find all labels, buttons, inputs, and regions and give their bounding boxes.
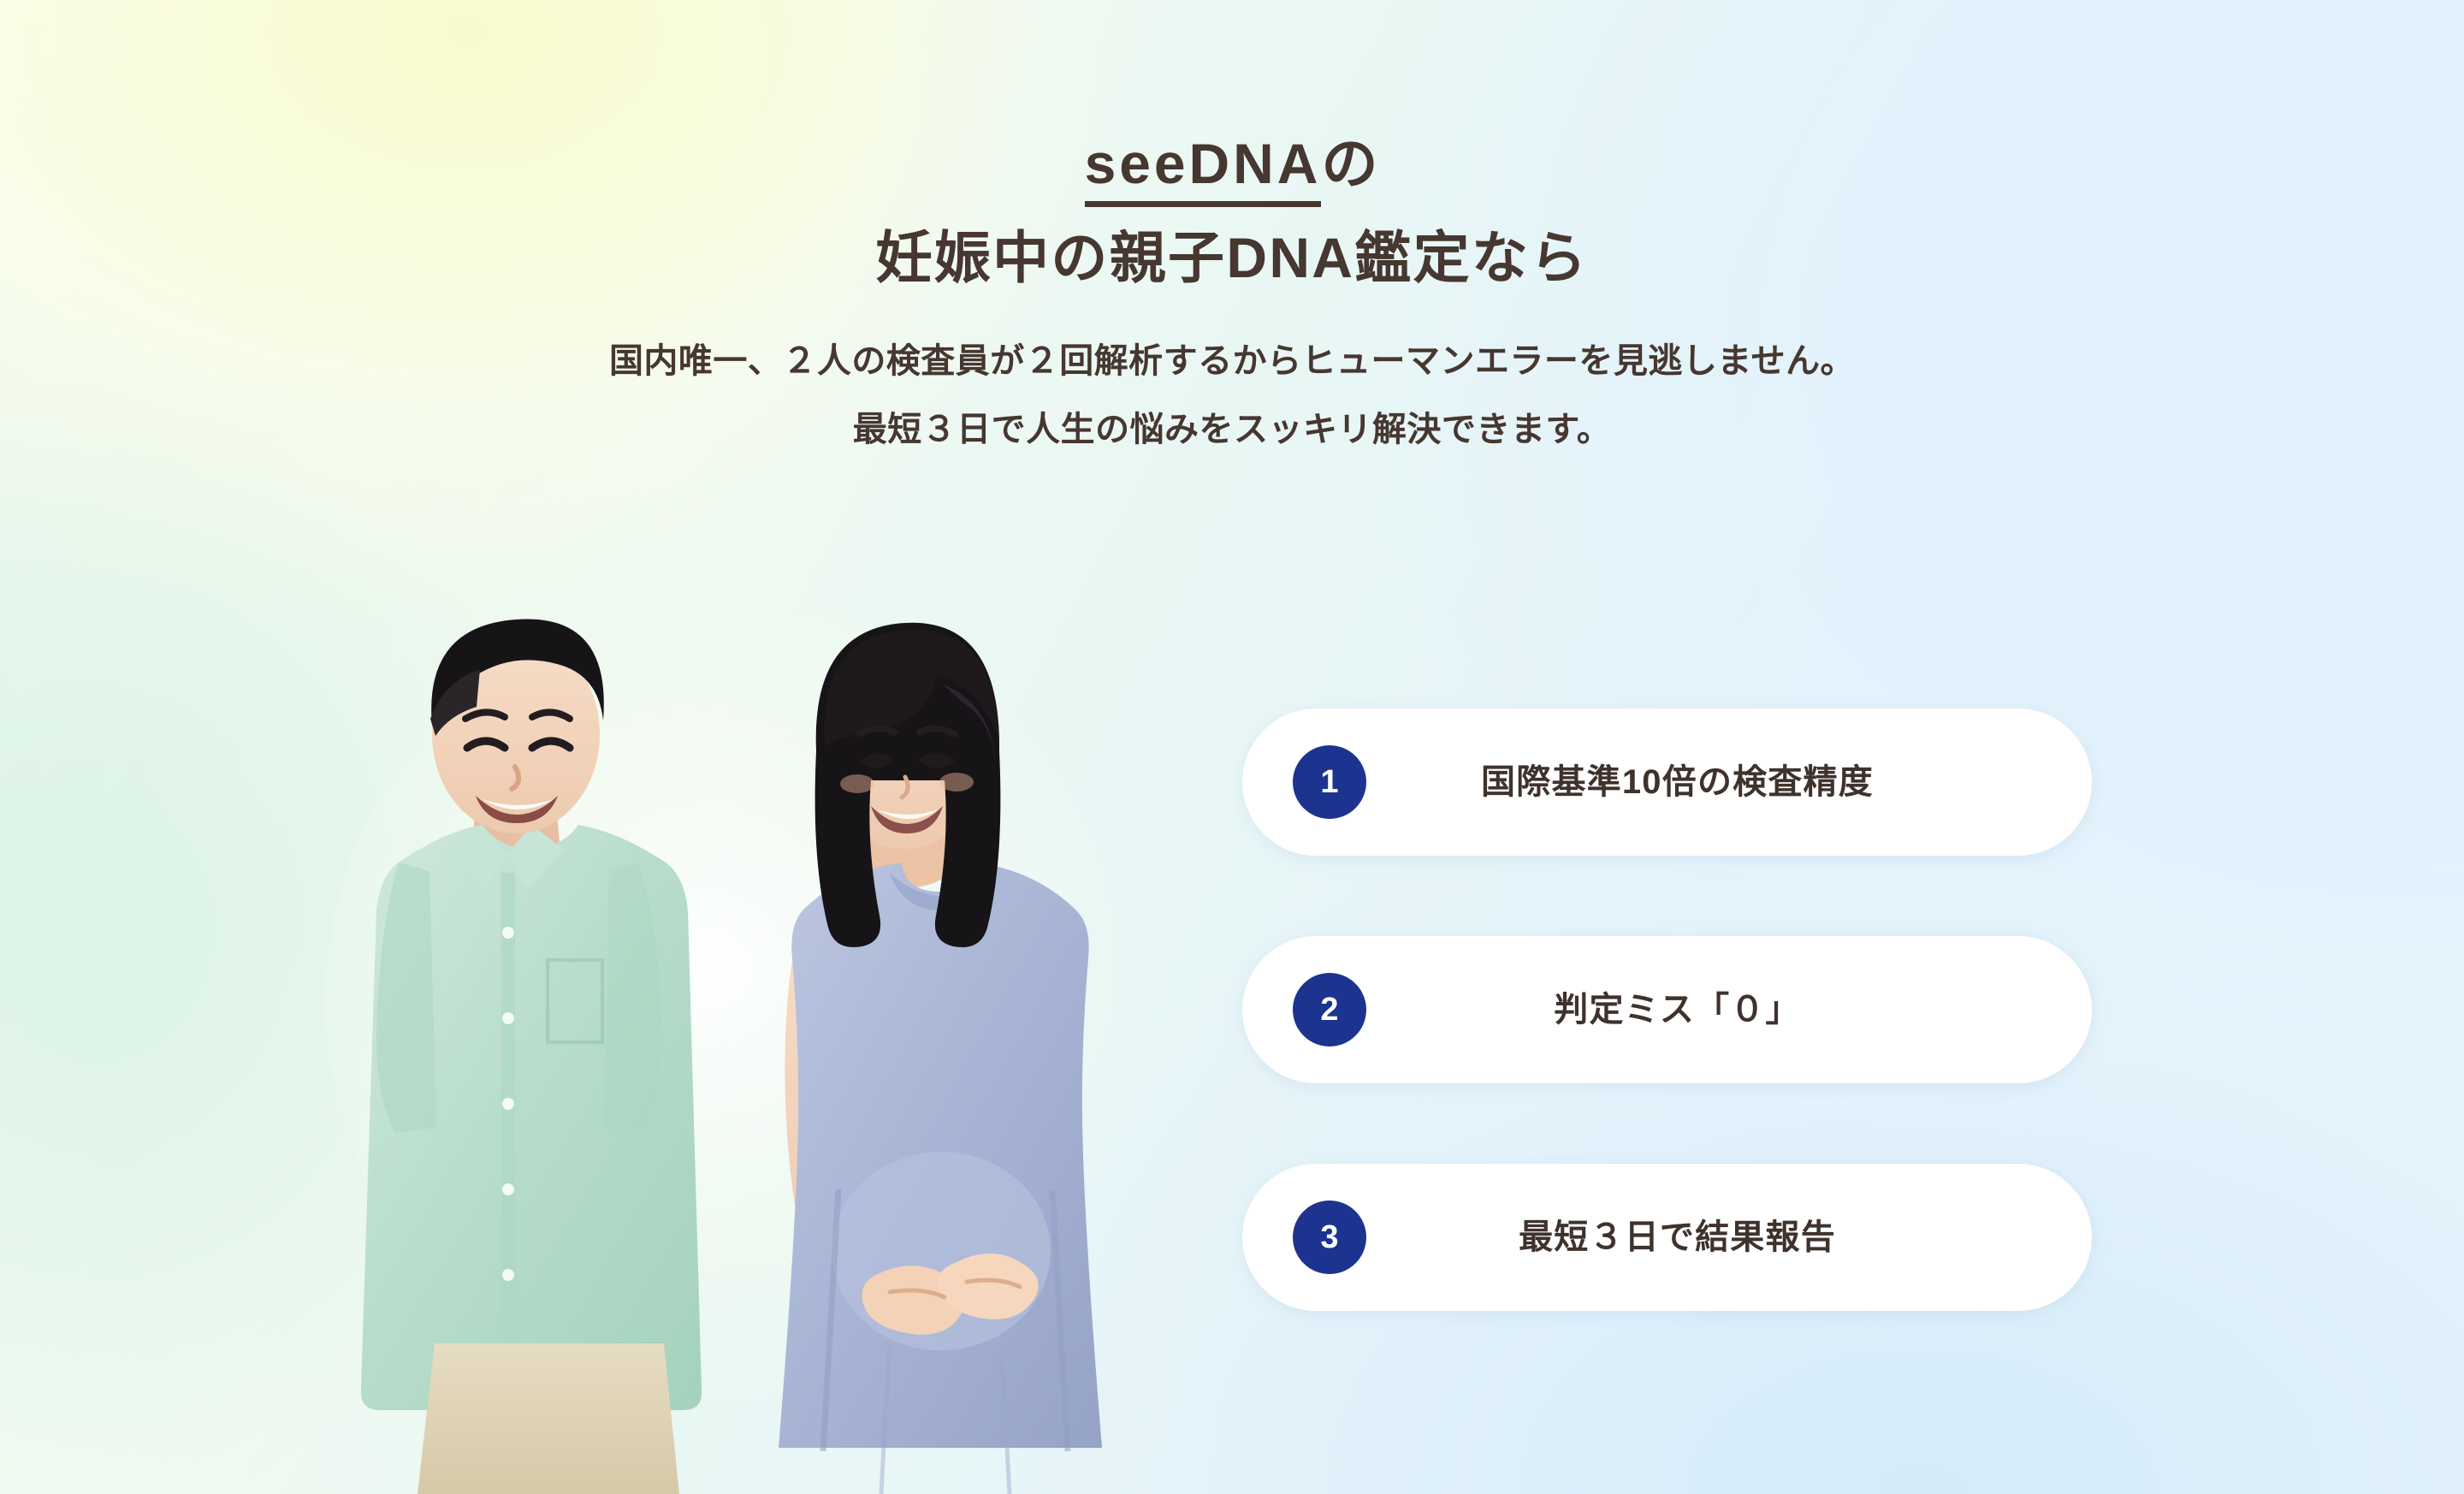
feature-label-2: 判定ミス「０」 xyxy=(1242,993,2092,1027)
feature-card-1[interactable]: 1 国際基準10倍の検査精度 xyxy=(1242,708,2092,856)
brand-name: seeDNA xyxy=(1085,132,1322,207)
feature-card-3[interactable]: 3 最短３日で結果報告 xyxy=(1242,1164,2092,1311)
subheadline-line-2: 最短３日で人生の悩みをスッキリ解決できます。 xyxy=(0,378,2464,447)
feature-label-3: 最短３日で結果報告 xyxy=(1242,1220,2092,1254)
feature-card-2[interactable]: 2 判定ミス「０」 xyxy=(1242,936,2092,1083)
hero-couple-photo xyxy=(291,590,1198,1494)
subheadline-line-1: 国内唯一、２人の検査員が２回解析するからヒューマンエラーを見逃しません。 xyxy=(0,286,2464,378)
photo-woman xyxy=(779,623,1102,1494)
hero-section: seeDNAの 妊娠中の親子DNA鑑定なら 国内唯一、２人の検査員が２回解析する… xyxy=(0,0,2464,1494)
headline-line-1-suffix: の xyxy=(1321,132,1379,195)
feature-badge-2: 2 xyxy=(1293,973,1366,1046)
feature-card-list: 1 国際基準10倍の検査精度 2 判定ミス「０」 3 最短３日で結果報告 xyxy=(1242,708,2092,1311)
feature-badge-3: 3 xyxy=(1293,1201,1366,1274)
feature-label-1: 国際基準10倍の検査精度 xyxy=(1242,765,2092,799)
headline-block: seeDNAの 妊娠中の親子DNA鑑定なら 国内唯一、２人の検査員が２回解析する… xyxy=(0,0,2464,447)
headline-line-1: seeDNAの xyxy=(0,0,2464,192)
feature-badge-1: 1 xyxy=(1293,745,1366,819)
